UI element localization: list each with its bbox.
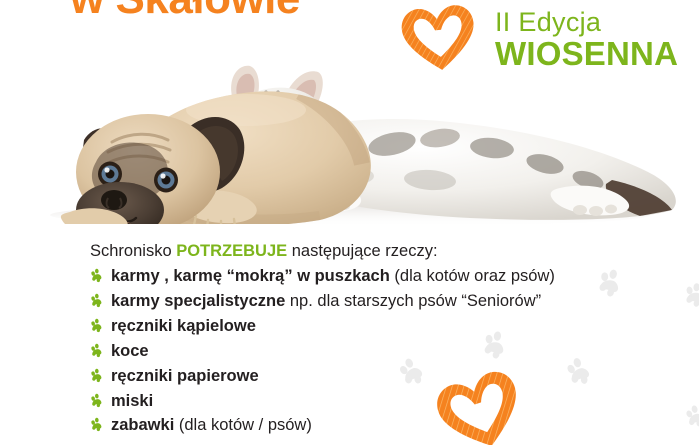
list-item-text: karmy , karmę “mokrą” w puszkach (dla ko… bbox=[111, 265, 555, 289]
page-title: w Skałowie bbox=[0, 0, 370, 22]
list-item: ręczniki kąpielowe bbox=[90, 315, 610, 339]
list-item-bold: miski bbox=[111, 392, 153, 410]
paw-print-icon bbox=[90, 392, 105, 407]
paw-print-icon bbox=[90, 416, 105, 431]
list-item-note: (dla kotów oraz psów) bbox=[390, 267, 555, 285]
list-item-text: ręczniki kąpielowe bbox=[111, 315, 256, 339]
pug-and-cat-illustration bbox=[0, 52, 699, 224]
list-item-text: ręczniki papierowe bbox=[111, 365, 259, 389]
needs-intro-highlight: POTRZEBUJE bbox=[176, 242, 287, 260]
edition-subtitle: II Edycja bbox=[495, 8, 678, 36]
list-item-bold: ręczniki papierowe bbox=[111, 367, 259, 385]
list-item-text: koce bbox=[111, 340, 149, 364]
poster-canvas: w Skałowie II Edycja WIOSENNA Schronisko… bbox=[0, 0, 699, 445]
needs-list-block: Schronisko POTRZEBUJE następujące rzeczy… bbox=[90, 240, 610, 438]
list-item-bold: ręczniki kąpielowe bbox=[111, 317, 256, 335]
paw-print-icon bbox=[90, 342, 105, 357]
needs-intro: Schronisko POTRZEBUJE następujące rzeczy… bbox=[90, 240, 610, 264]
list-item-text: miski bbox=[111, 390, 153, 414]
list-item-note: np. dla starszych psów “Seniorów” bbox=[285, 292, 541, 310]
list-item-bold: karmy specjalistyczne bbox=[111, 292, 285, 310]
list-item-bold: koce bbox=[111, 342, 149, 360]
edition-title: WIOSENNA bbox=[495, 37, 678, 72]
paw-print-icon bbox=[90, 317, 105, 332]
pug-figure bbox=[61, 91, 371, 224]
list-item-note: (dla kotów / psów) bbox=[174, 416, 312, 434]
list-item-text: zabawki (dla kotów / psów) bbox=[111, 414, 312, 438]
list-item: karmy , karmę “mokrą” w puszkach (dla ko… bbox=[90, 265, 610, 289]
paw-print-icon bbox=[90, 367, 105, 382]
list-item-text: karmy specjalistyczne np. dla starszych … bbox=[111, 290, 541, 314]
edition-block: II Edycja WIOSENNA bbox=[495, 8, 678, 72]
paw-print-icon bbox=[90, 292, 105, 307]
needs-intro-after: następujące rzeczy: bbox=[287, 242, 437, 260]
list-item-bold: zabawki bbox=[111, 416, 174, 434]
list-item: ręczniki papierowe bbox=[90, 365, 610, 389]
needs-intro-before: Schronisko bbox=[90, 242, 176, 260]
list-item: koce bbox=[90, 340, 610, 364]
paw-print-icon bbox=[90, 267, 105, 282]
list-item-bold: karmy , karmę “mokrą” w puszkach bbox=[111, 267, 390, 285]
animals-photo bbox=[0, 52, 699, 224]
paw-print-icon bbox=[681, 280, 699, 315]
heart-icon bbox=[397, 0, 482, 78]
paw-print-icon bbox=[683, 402, 699, 434]
list-item: karmy specjalistyczne np. dla starszych … bbox=[90, 290, 610, 314]
list-item: miski bbox=[90, 390, 610, 414]
